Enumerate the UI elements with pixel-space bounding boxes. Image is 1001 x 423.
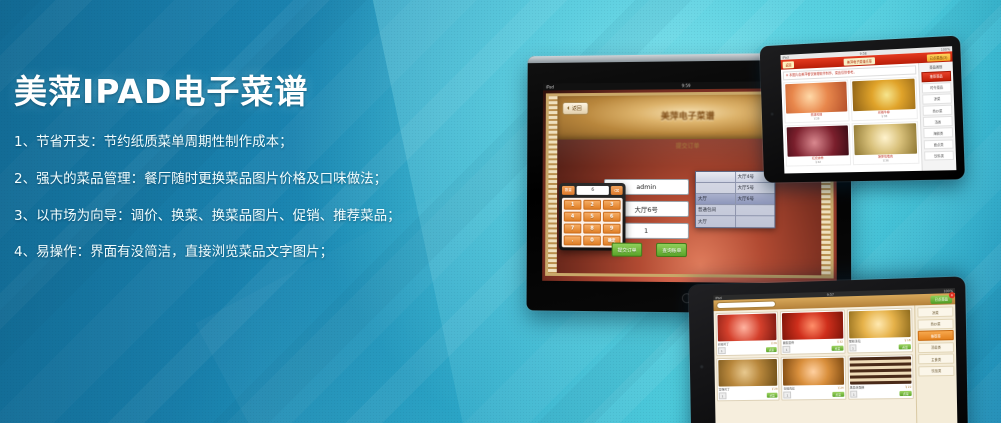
dish-name: 黑森林蛋糕 [850,385,865,389]
keypad-key[interactable]: 3 [603,200,621,210]
category-item[interactable]: 凉菜 [917,306,953,317]
cell-area: 大厅 [696,194,736,204]
query-bill-button[interactable]: 查询账单 [656,243,687,257]
feature-list: 1、节省开支：节约纸质菜单周期性制作成本； 2、强大的菜品管理：餐厅随时更换菜品… [14,135,484,260]
dish-price: ￥22 [905,385,912,389]
keypad-grid: 1 2 3 4 5 6 7 8 9 . [562,198,623,248]
cell-area: 普通包间 [696,205,736,215]
list-item: 2、强大的菜品管理：餐厅随时更换菜品图片价格及口味做法； [14,172,484,187]
dish-grid: 彩椒鸡丁 ￥26 1 点菜 [716,308,914,402]
cell-name: 大厅5号 [736,183,775,193]
category-item[interactable]: 热炒菜 [923,105,953,116]
category-item[interactable]: 凉菜 [922,94,952,105]
backspace-icon[interactable]: ⌫ [611,186,623,195]
dish-image [852,78,916,111]
quantity-stepper[interactable]: 1 [850,391,858,398]
status-carrier: iPad [782,55,788,59]
camera-icon [699,364,704,369]
dish-controls: 1 点菜 [850,390,912,398]
status-battery: 100% [941,47,950,52]
table-row[interactable]: 大厅5号 [696,183,774,194]
dish-gallery: 彩椒鸡丁 ￥26 1 点菜 [714,305,917,423]
dish-image [718,359,777,387]
dish-card[interactable]: 青椒肉丝 ￥24 1 点菜 [781,356,846,401]
dish-controls: 1 点菜 [784,391,844,399]
keypad-key[interactable]: 1 [564,200,582,210]
status-clock: 9:58 [860,51,867,55]
dish-controls: 1 点菜 [719,392,778,400]
quantity-stepper[interactable]: 1 [849,344,857,351]
dish-name: 宫保鸡丁 [719,387,730,391]
add-dish-button[interactable]: 点菜 [766,392,777,398]
list-item: 1、节省开支：节约纸质菜单周期性制作成本； [14,135,484,150]
add-dish-button[interactable]: 点菜 [832,391,844,397]
category-item[interactable]: 推荐菜品 [921,71,951,82]
keypad-key[interactable]: . [564,235,582,245]
keypad-header: 数量 6 ⌫ [562,186,623,195]
dish-card[interactable]: 蟹粉汤包 ￥18 1 点菜 [846,308,913,354]
camera-icon [770,112,774,116]
tablet-bottom-right: iPad 9:57 100% 已点菜品 6 [689,276,969,423]
page-title: 美萍IPAD电子菜谱 [14,74,484,111]
dish-price: ￥42 [788,159,849,164]
table-row[interactable]: 大厅4号 [696,172,774,183]
quantity-stepper[interactable]: 1 [718,347,726,354]
dish-controls: 1 点菜 [783,345,843,353]
action-buttons: 提交订单 查询账单 [612,243,688,257]
dish-image [853,123,917,155]
list-item: 4、易操作：界面有没简洁，直接浏览菜品文字图片； [14,245,484,260]
dish-price: ￥18 [904,338,911,342]
dish-name: 糖醋里脊 [783,341,794,345]
dish-image [849,356,911,384]
category-item[interactable]: 主食类 [918,353,954,364]
dish-controls: 1 点菜 [718,346,777,354]
dish-gallery: ※ 本图片由美萍餐饮管理软件制作，菜品仅供参考。 香辣鸡翅 ￥28 彩椒牛柳 ￥… [781,63,922,173]
search-input[interactable] [716,300,776,309]
tablet-top-right-screen: iPad 9:58 100% 返回 美萍电子菜谱点菜 已点菜品(3) ※ 本图片… [780,46,956,173]
app-body: 彩椒鸡丁 ￥26 1 点菜 [714,304,958,423]
status-carrier: iPad [546,84,554,89]
table-list[interactable]: 大厅4号 大厅5号 大厅 大厅6号 [695,171,776,229]
add-dish-button[interactable]: 点菜 [900,391,912,397]
tablet-top-right: iPad 9:58 100% 返回 美萍电子菜谱点菜 已点菜品(3) ※ 本图片… [760,36,965,183]
dish-card[interactable]: 糖醋里脊 ￥32 1 点菜 [780,309,845,354]
dish-name: 青椒肉丝 [783,386,794,390]
keypad-key[interactable]: 6 [603,212,621,222]
dish-meta: 宫保鸡丁 ￥28 [719,387,778,392]
dish-image [785,81,847,113]
category-item[interactable]: 饮料类 [924,150,954,160]
dish-controls: 1 点菜 [849,343,911,351]
quantity-stepper[interactable]: 1 [719,392,727,399]
dish-card[interactable]: 黑森林蛋糕 ￥22 1 点菜 [847,354,914,399]
category-item[interactable]: 汤类 [923,116,953,127]
keypad-key[interactable]: 4 [564,212,582,222]
cart-button[interactable]: 已点菜品(3) [927,53,951,61]
dish-price: ￥28 [786,115,847,121]
numeric-keypad[interactable]: 数量 6 ⌫ 1 2 3 4 5 6 [559,183,626,251]
dish-grid: 香辣鸡翅 ￥28 彩椒牛柳 ￥38 红烧排骨 ￥42 [783,76,919,166]
dish-price: ￥38 [853,113,916,119]
keypad-label: 数量 [562,186,575,195]
dish-image [787,125,849,156]
promo-banner: 美萍IPAD电子菜谱 1、节省开支：节约纸质菜单周期性制作成本； 2、强大的菜品… [0,0,1001,423]
keypad-key[interactable]: 7 [564,224,582,234]
category-item[interactable]: 热炒菜 [918,318,954,329]
quantity-stepper[interactable]: 1 [783,346,791,353]
category-title: 菜品类别 [921,64,951,70]
dish-price: ￥26 [770,341,776,345]
category-item[interactable]: 饮品类 [918,365,954,376]
tablet-bottom-right-screen: iPad 9:57 100% 已点菜品 6 [713,288,957,423]
cell-name: 大厅6号 [736,194,775,204]
cell-area: 大厅 [696,216,736,227]
add-dish-button[interactable]: 点菜 [766,347,777,353]
app-title: 美萍电子菜谱点菜 [844,57,875,66]
category-item[interactable]: 时令菜品 [922,82,952,93]
dish-meta: 黑森林蛋糕 ￥22 [850,385,912,390]
dish-meta: 青椒肉丝 ￥24 [783,386,843,391]
table-row[interactable]: 大厅 大厅6号 [696,194,774,205]
back-button[interactable]: 返回 [783,61,795,68]
cart-button[interactable]: 已点菜品 6 [931,295,952,304]
dish-image [717,313,776,341]
keypad-key[interactable]: 5 [583,212,601,222]
status-carrier: iPad [715,296,721,300]
dish-card[interactable]: 彩椒牛柳 ￥38 [850,76,918,121]
category-item[interactable]: 海鲜类 [923,128,953,139]
category-item[interactable]: 汤羹类 [918,342,954,353]
dish-price: ￥32 [836,340,843,344]
dish-card[interactable]: 彩椒鸡丁 ￥26 1 点菜 [716,311,779,356]
category-sidebar: 凉菜 热炒菜 推荐菜 汤羹类 主食类 饮品类 [914,304,957,423]
quantity-stepper[interactable]: 1 [784,391,792,398]
dish-card[interactable]: 香辣鸡翅 ￥28 [783,79,849,123]
category-item[interactable]: 推荐菜 [918,330,954,341]
keypad-key[interactable]: 2 [583,200,601,210]
table-row[interactable]: 大厅 [696,216,775,227]
cart-label: 已点菜品 [935,297,948,301]
keypad-key[interactable]: 0 [583,236,601,246]
table-row[interactable]: 普通包间 [696,205,774,216]
cell-name [736,205,775,215]
dish-image [783,358,844,386]
dish-card[interactable]: 红烧排骨 ￥42 [785,123,851,166]
dish-name: 蟹粉汤包 [849,339,861,343]
app-body: ※ 本图片由美萍餐饮管理软件制作，菜品仅供参考。 香辣鸡翅 ￥28 彩椒牛柳 ￥… [781,62,956,174]
add-dish-button[interactable]: 点菜 [832,345,844,351]
dish-price: ￥36 [854,157,917,162]
cell-area [696,183,736,193]
category-item[interactable]: 面点类 [924,139,954,150]
status-clock: 9:57 [827,292,834,296]
cart-badge: 6 [949,292,955,298]
dish-price: ￥28 [771,387,777,391]
cell-name [736,216,775,227]
keypad-key[interactable]: 9 [603,224,621,234]
keypad-display[interactable]: 6 [577,186,609,195]
dish-price: ￥24 [837,386,844,390]
dish-card[interactable]: 宫保鸡丁 ￥28 1 点菜 [716,357,780,401]
dish-card[interactable]: 菠萝咕噜肉 ￥36 [851,121,919,165]
dish-image [848,310,910,339]
keypad-key[interactable]: 8 [583,224,601,234]
category-sidebar: 菜品类别 推荐菜品 时令菜品 凉菜 热炒菜 汤类 海鲜类 面点类 饮料类 [918,62,956,171]
dish-image [782,312,843,340]
list-item: 3、以市场为向导：调价、换菜、换菜品图片、促销、推荐菜品； [14,209,484,224]
status-clock: 9:59 [682,83,691,88]
marketing-copy: 美萍IPAD电子菜谱 1、节省开支：节约纸质菜单周期性制作成本； 2、强大的菜品… [14,74,484,282]
dish-name: 彩椒鸡丁 [718,342,729,346]
submit-order-button[interactable]: 提交订单 [612,243,643,257]
add-dish-button[interactable]: 点菜 [899,344,911,350]
cell-area [696,172,736,182]
